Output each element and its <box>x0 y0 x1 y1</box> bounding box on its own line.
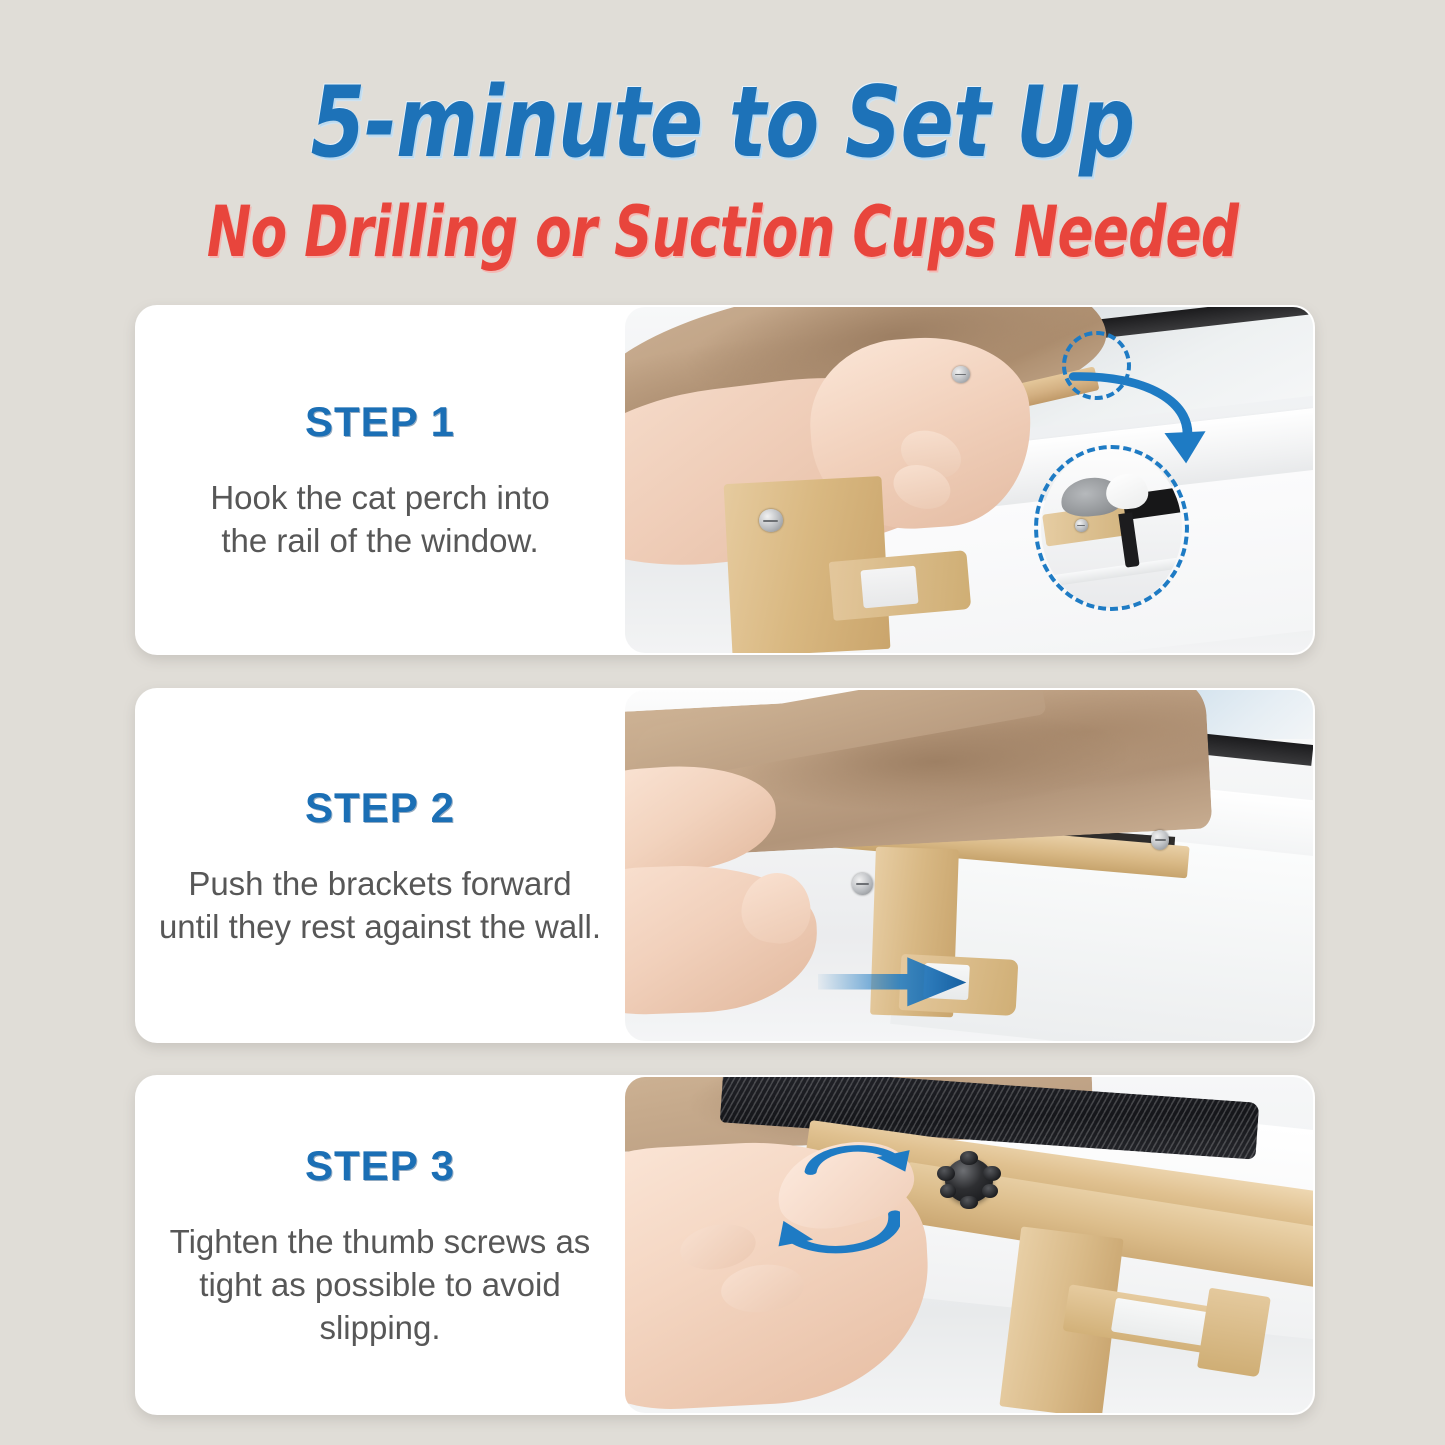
step-3-title: STEP 3 <box>305 1142 455 1190</box>
step-2-title: STEP 2 <box>305 784 455 832</box>
step-3-description: Tighten the thumb screws as tight as pos… <box>170 1220 591 1349</box>
header: 5-minute to Set Up No Drilling or Suctio… <box>0 0 1445 290</box>
dashed-callout-circle-large <box>1034 445 1189 611</box>
bracket-screw <box>759 509 782 531</box>
step-2-photo <box>625 690 1313 1041</box>
dashed-callout-circle-small <box>1062 331 1131 400</box>
plank-screw-right <box>1151 830 1169 849</box>
page-subtitle: No Drilling or Suction Cups Needed <box>173 192 1271 272</box>
step-card-2: STEP 2 Push the brackets forward until t… <box>135 688 1315 1043</box>
bamboo-hook-tip <box>1197 1288 1271 1377</box>
step-card-1: STEP 1 Hook the cat perch into the rail … <box>135 305 1315 655</box>
rail-screw <box>952 366 970 383</box>
step-card-3: STEP 3 Tighten the thumb screws as tight… <box>135 1075 1315 1415</box>
step-2-text-panel: STEP 2 Push the brackets forward until t… <box>135 688 625 1043</box>
hook-notch <box>861 566 919 609</box>
plank-screw-left <box>852 873 873 896</box>
step-2-description: Push the brackets forward until they res… <box>159 862 601 948</box>
step-3-text-panel: STEP 3 Tighten the thumb screws as tight… <box>135 1075 625 1415</box>
step-1-description: Hook the cat perch into the rail of the … <box>210 476 549 562</box>
page-headline: 5-minute to Set Up <box>145 68 1301 178</box>
step-3-photo <box>625 1077 1313 1413</box>
hook-notch <box>923 963 969 1000</box>
step-1-title: STEP 1 <box>305 398 455 446</box>
thumb-screw-right <box>945 1158 993 1203</box>
step-1-photo <box>625 307 1313 653</box>
step-1-text-panel: STEP 1 Hook the cat perch into the rail … <box>135 305 625 655</box>
